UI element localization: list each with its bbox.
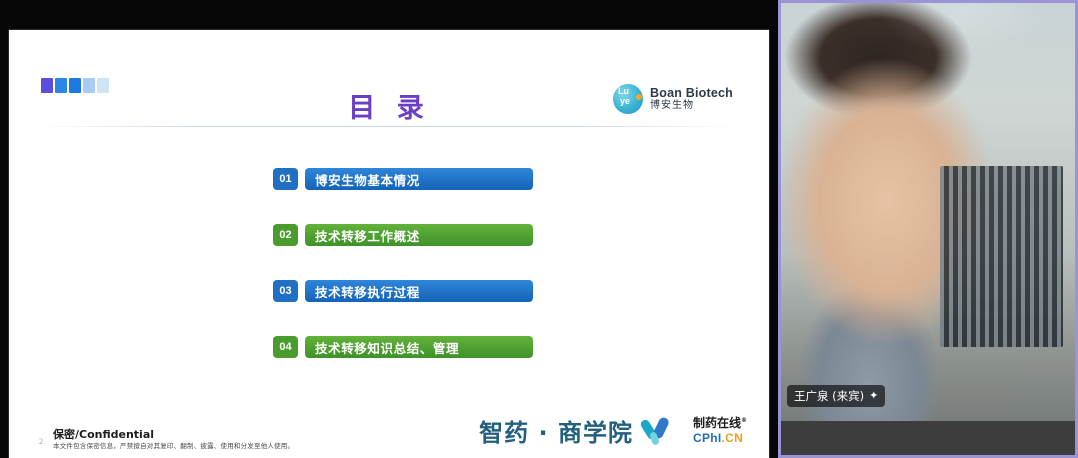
video-tile-bottom-bar <box>781 421 1075 455</box>
luye-circle-icon: Lu ye <box>613 84 643 114</box>
toc-label-01: 博安生物基本情况 <box>305 168 533 190</box>
luye-logo-ye-text: ye <box>620 97 630 106</box>
brand-school-name: 智药 · 商学院 <box>479 413 633 448</box>
toc-number-04: 04 <box>273 336 298 358</box>
toc-item-04[interactable]: 04 技术转移知识总结、管理 <box>273 336 533 358</box>
slide-page-number: 2 <box>39 437 43 446</box>
presentation-slide[interactable]: 目 录 Lu ye Boan Biotech 博安生物 01 博安生物基本情 <box>9 30 769 458</box>
boan-biotech-logo: Lu ye Boan Biotech 博安生物 <box>613 84 733 114</box>
pin-icon[interactable]: ✦ <box>869 391 878 402</box>
table-of-contents: 01 博安生物基本情况 02 技术转移工作概述 03 技术转移执行过程 04 技… <box>273 168 533 358</box>
luye-logo-lu-text: Lu <box>618 87 629 96</box>
luye-logo-dot-icon <box>636 94 642 100</box>
logo-wordmark: Boan Biotech 博安生物 <box>650 86 733 112</box>
toc-number-02: 02 <box>273 224 298 246</box>
screen: 目 录 Lu ye Boan Biotech 博安生物 01 博安生物基本情 <box>0 0 1078 458</box>
confidential-body: 本文件包含保密信息，严禁擅自对其复印、翻制、披露、使用和分发至他人使用。 <box>53 442 294 450</box>
toc-item-01[interactable]: 01 博安生物基本情况 <box>273 168 533 190</box>
cphi-name-cn: 制药在线® <box>693 416 747 430</box>
pill-capsule-icon <box>643 416 683 446</box>
toc-item-03[interactable]: 03 技术转移执行过程 <box>273 280 533 302</box>
confidential-title: 保密/Confidential <box>53 428 294 442</box>
toc-label-04: 技术转移知识总结、管理 <box>305 336 533 358</box>
logo-name-cn: 博安生物 <box>650 100 733 112</box>
header-divider <box>37 126 737 127</box>
toc-number-03: 03 <box>273 280 298 302</box>
shared-screen-region[interactable]: 目 录 Lu ye Boan Biotech 博安生物 01 博安生物基本情 <box>0 0 778 458</box>
confidential-notice: 保密/Confidential 本文件包含保密信息，严禁擅自对其复印、翻制、披露… <box>53 428 294 450</box>
cphi-wordmark: 制药在线® CPhI.CN <box>693 416 747 445</box>
participant-name-text: 王广泉 (来宾) <box>794 388 864 404</box>
toc-item-02[interactable]: 02 技术转移工作概述 <box>273 224 533 246</box>
participant-video-tile[interactable]: 王广泉 (来宾) ✦ <box>778 0 1078 458</box>
participant-name-label: 王广泉 (来宾) ✦ <box>787 385 885 407</box>
footer-branding: 智药 · 商学院 制药在线® CPhI.CN <box>479 413 747 448</box>
registered-mark: ® <box>741 417 747 424</box>
cphi-name-en: CPhI.CN <box>693 431 747 445</box>
toc-label-02: 技术转移工作概述 <box>305 224 533 246</box>
toc-label-03: 技术转移执行过程 <box>305 280 533 302</box>
toc-number-01: 01 <box>273 168 298 190</box>
logo-name-en: Boan Biotech <box>650 86 733 100</box>
